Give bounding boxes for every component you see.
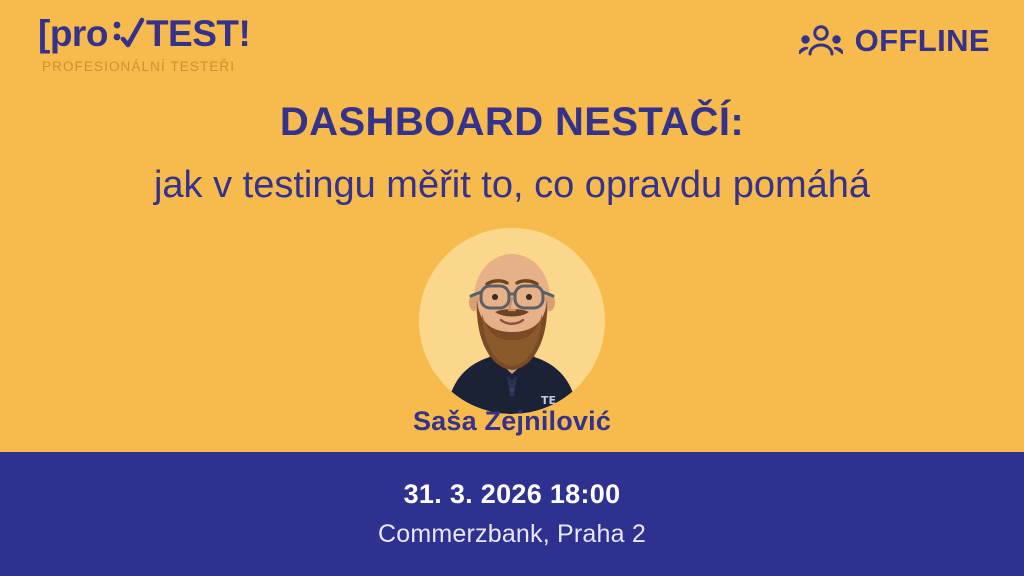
page-title: DASHBOARD NESTAČÍ: xyxy=(0,100,1024,144)
event-announcement-slide: [pro TEST! PROFESIONÁLNÍ TESTEŘI xyxy=(0,0,1024,576)
logo-test-text: TEST! xyxy=(146,15,250,52)
logo-pro-text: pro xyxy=(50,15,108,52)
status-badge-label: OFFLINE xyxy=(855,25,990,56)
speaker-portrait-avatar: TE xyxy=(419,228,605,414)
logo-wordmark: [pro TEST! xyxy=(38,14,250,52)
logo-bracket: [ xyxy=(38,15,50,52)
people-group-icon xyxy=(799,24,843,56)
event-venue: Commerzbank, Praha 2 xyxy=(378,520,646,549)
event-details-footer: 31. 3. 2026 18:00 Commerzbank, Praha 2 xyxy=(0,452,1024,576)
speaker-name: Saša Zejnilović xyxy=(0,406,1024,437)
page-subtitle: jak v testingu měřit to, co opravdu pomá… xyxy=(0,163,1024,209)
slide-header: [pro TEST! PROFESIONÁLNÍ TESTEŘI xyxy=(0,0,1024,92)
logo-tagline: PROFESIONÁLNÍ TESTEŘI xyxy=(42,59,235,74)
brand-logo[interactable]: [pro TEST! PROFESIONÁLNÍ TESTEŘI xyxy=(38,14,250,74)
smiley-colon-check-icon xyxy=(111,14,145,52)
status-badge[interactable]: OFFLINE xyxy=(799,24,990,56)
event-datetime: 31. 3. 2026 18:00 xyxy=(404,479,621,510)
